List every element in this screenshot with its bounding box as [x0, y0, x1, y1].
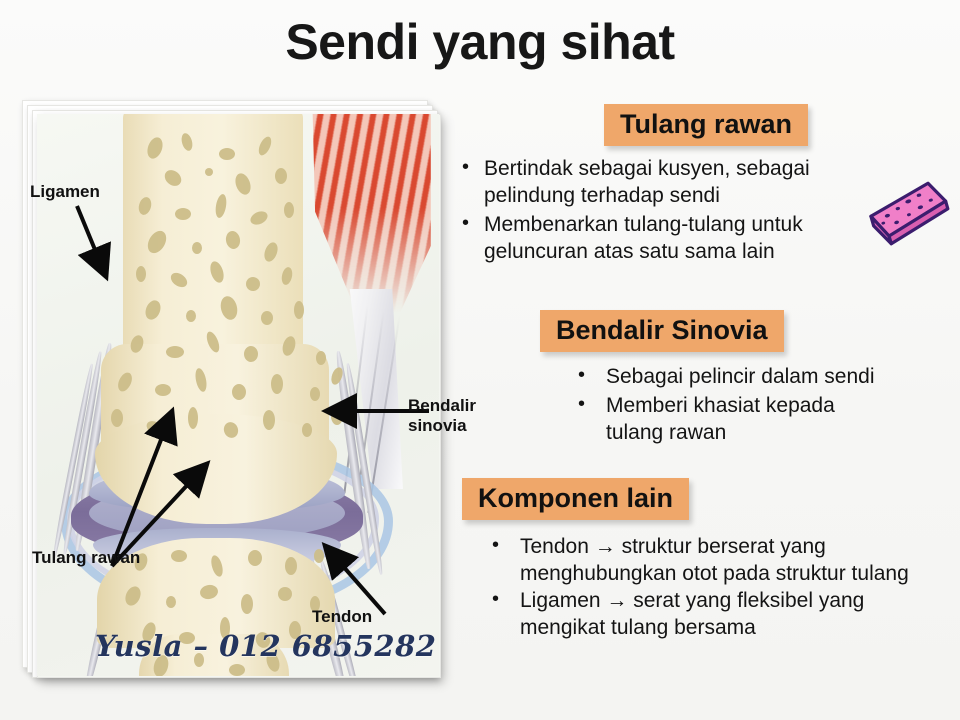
watermark: Yusla – 012 6855282	[95, 629, 436, 663]
slide-canvas: Sendi yang sihat	[0, 0, 960, 720]
tendon-arrow	[327, 548, 385, 614]
section-cartilage: Tulang rawan Bertindak sebagai kusyen, s…	[452, 104, 882, 268]
bullet-item: Tendon → struktur berserat yang menghubu…	[486, 534, 932, 588]
section-heading-synovial: Bendalir Sinovia	[540, 310, 784, 352]
bullet-list-synovial: Sebagai pelincir dalam sendi Memberi kha…	[570, 364, 892, 447]
label-ligamen: Ligamen	[30, 182, 100, 202]
page-title: Sendi yang sihat	[0, 16, 960, 69]
bullet-item: Bertindak sebagai kusyen, sebagai pelind…	[452, 156, 882, 210]
bullet-list-other: Tendon → struktur berserat yang menghubu…	[486, 534, 932, 642]
bullet-item: Memberi khasiat kepada tulang rawan	[570, 393, 892, 447]
section-synovial: Bendalir Sinovia Sebagai pelincir dalam …	[452, 310, 892, 449]
bullet-item: Ligamen → serat yang fleksibel yang meng…	[486, 588, 932, 642]
bullet-item: Membenarkan tulang-tulang untuk geluncur…	[452, 212, 882, 266]
ligamen-arrow	[77, 206, 105, 274]
section-heading-other: Komponen lain	[462, 478, 689, 520]
label-tendon: Tendon	[312, 607, 372, 627]
section-other-components: Komponen lain Tendon → struktur berserat…	[462, 478, 932, 642]
cartilage-slab-icon	[862, 176, 954, 254]
bullet-item: Sebagai pelincir dalam sendi	[570, 364, 892, 391]
tulang-rawan-arrow-1	[112, 414, 171, 566]
label-tulang-rawan: Tulang rawan	[32, 548, 140, 568]
section-heading-cartilage: Tulang rawan	[604, 104, 808, 146]
bullet-list-cartilage: Bertindak sebagai kusyen, sebagai pelind…	[452, 156, 882, 266]
